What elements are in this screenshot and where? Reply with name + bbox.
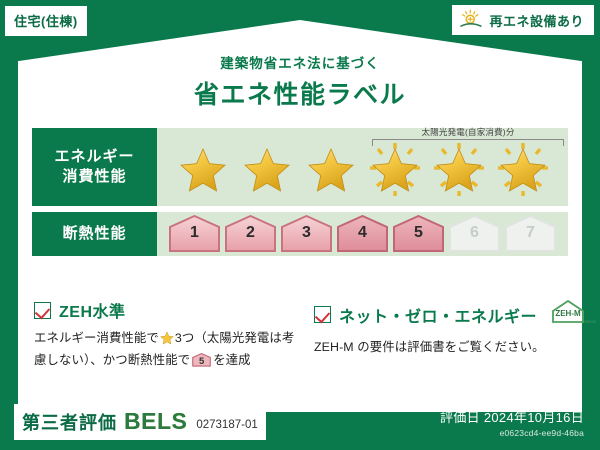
label-hash: e0623cd4-ee9d-46ba (440, 428, 584, 438)
insulation-grade-2: 2 (224, 215, 277, 253)
star-icon (435, 147, 483, 193)
third-party-label: 第三者評価 (22, 409, 117, 435)
insulation-grades-panel: 1 2 3 (157, 212, 568, 256)
insulation-grade-5: 5 (392, 215, 445, 253)
insulation-grade-3: 3 (280, 215, 333, 253)
net-zero-body: ZEH-M の要件は評価書をご覧ください。 (314, 338, 600, 357)
star-icon (499, 147, 547, 193)
grade-value: 2 (224, 224, 277, 242)
star-5 (430, 141, 488, 197)
evaluation-date-value: 2024年10月16日 (484, 410, 584, 425)
star-2 (238, 141, 296, 197)
energy-label-line1: エネルギー (54, 147, 134, 167)
grade-value: 4 (336, 224, 389, 242)
insulation-grade-7: 7 (504, 215, 557, 253)
rating-rows: エネルギー 消費性能 太陽光発電(自家消費)分 (32, 128, 568, 262)
netzero-checkbox-checked-icon (314, 306, 331, 323)
insulation-performance-label: 断熱性能 (32, 212, 157, 256)
energy-label-line2: 消費性能 (62, 167, 126, 187)
energy-performance-label: エネルギー 消費性能 (32, 128, 157, 206)
renewable-equipment-badge: 再エネ設備あり (452, 5, 594, 35)
evaluation-date-label: 評価日 (440, 410, 480, 425)
star-icon (243, 147, 291, 193)
bels-logo-text: BELS (124, 408, 187, 435)
grade-value: 5 (392, 224, 445, 242)
renewable-badge-label: 再エネ設備あり (489, 11, 584, 30)
solar-annotation-text: 太陽光発電(自家消費)分 (370, 126, 566, 138)
evaluation-date-block: 評価日 2024年10月16日 e0623cd4-ee9d-46ba (440, 407, 584, 438)
net-zero-energy-block: ネット・ゼロ・エネルギー ZEH-M ZEH-M ZEH-M の要件は評価書をご… (300, 298, 600, 370)
energy-performance-stars-panel: 太陽光発電(自家消費)分 (157, 128, 568, 206)
zeh-body-part1: エネルギー消費性能で (34, 331, 159, 345)
svg-text:ZEH-M: ZEH-M (584, 320, 595, 324)
bels-certification-footer: 第三者評価 BELS 0273187-01 (14, 404, 266, 440)
grade-value: 3 (280, 224, 333, 242)
insulation-grade-1: 1 (168, 215, 221, 253)
title-main: 省エネ性能ラベル (0, 75, 600, 111)
svg-text:ZEH-M: ZEH-M (555, 309, 581, 318)
energy-performance-label: 住宅(住棟) 再エネ設備あり 建築物省エネ法に基づく 省エネ性能ラベル (0, 0, 600, 450)
label-title-block: 建築物省エネ法に基づく 省エネ性能ラベル (0, 52, 600, 111)
grade-value: 6 (448, 224, 501, 242)
grade-value: 7 (504, 224, 557, 242)
star-3 (302, 141, 360, 197)
zeh-m-logo-icon: ZEH-M ZEH-M (547, 298, 597, 331)
insulation-grade-4: 4 (336, 215, 389, 253)
building-type-text: 住宅(住棟) (14, 14, 78, 29)
grade-value: 1 (168, 224, 221, 242)
star-icon (179, 147, 227, 193)
zeh-standard-body: エネルギー消費性能で3つ（太陽光発電は考慮しない）、かつ断熱性能で5を達成 (34, 329, 300, 370)
star-4 (366, 141, 424, 197)
criteria-blocks: ZEH水準 エネルギー消費性能で3つ（太陽光発電は考慮しない）、かつ断熱性能で5… (0, 298, 600, 370)
building-type-tag: 住宅(住棟) (5, 6, 87, 36)
zeh-standard-block: ZEH水準 エネルギー消費性能で3つ（太陽光発電は考慮しない）、かつ断熱性能で5… (0, 298, 300, 370)
zeh-standard-title: ZEH水準 (59, 298, 126, 322)
zeh-standard-header: ZEH水準 (34, 298, 300, 322)
sun-icon (458, 9, 484, 31)
star-rating (157, 141, 568, 197)
inline-grade-value: 5 (192, 355, 211, 370)
evaluation-date: 評価日 2024年10月16日 (440, 407, 584, 426)
inline-grade-badge: 5 (192, 352, 211, 368)
insulation-grade-6: 6 (448, 215, 501, 253)
zeh-body-part3: を達成 (213, 353, 250, 367)
insulation-performance-row: 断熱性能 1 (32, 212, 568, 256)
star-icon (307, 147, 355, 193)
net-zero-header: ネット・ゼロ・エネルギー ZEH-M ZEH-M (314, 298, 600, 331)
title-subtitle: 建築物省エネ法に基づく (0, 52, 600, 72)
star-icon (371, 147, 419, 193)
insulation-label-text: 断熱性能 (62, 224, 126, 244)
star-6 (494, 141, 552, 197)
inline-star-icon (160, 331, 174, 351)
zeh-checkbox-checked-icon (34, 302, 51, 319)
certificate-number: 0273187-01 (196, 419, 257, 431)
net-zero-title: ネット・ゼロ・エネルギー (339, 303, 537, 327)
energy-performance-row: エネルギー 消費性能 太陽光発電(自家消費)分 (32, 128, 568, 206)
insulation-grade-scale: 1 2 3 (157, 212, 568, 256)
star-1 (174, 141, 232, 197)
